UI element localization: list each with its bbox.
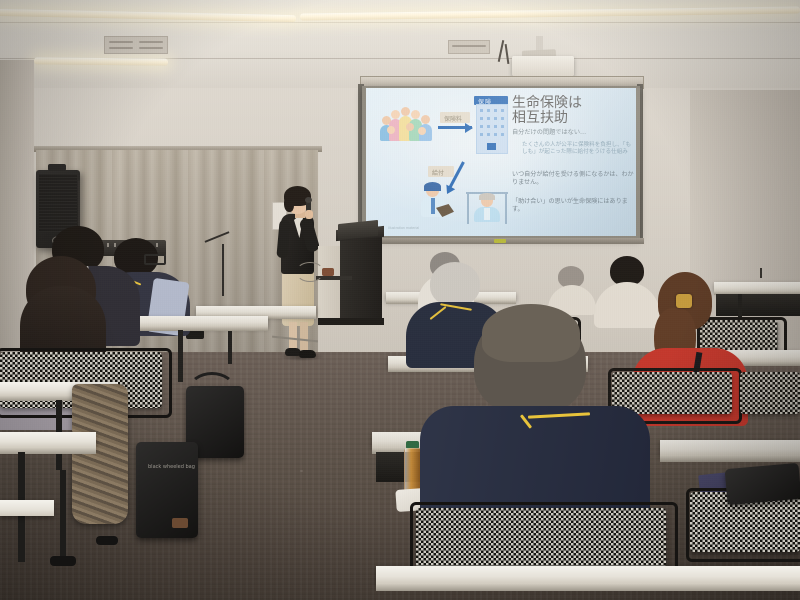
hair-barrette: [676, 294, 692, 308]
desk-edge: [376, 583, 800, 591]
desk-edge: [660, 455, 800, 462]
desk-edge: [118, 326, 268, 331]
glasses-icon: [144, 254, 166, 265]
ceiling-light-strip: [34, 57, 168, 65]
carpet-speck: [300, 470, 303, 472]
desk: [0, 500, 54, 516]
desk-front-panel: [716, 294, 800, 316]
desk-leg: [178, 330, 183, 382]
seminar-room-photo: projector 保険料 保険: [0, 0, 800, 600]
chair-caster: [50, 556, 76, 566]
speaker-grille: [39, 174, 77, 232]
desk: [660, 440, 800, 456]
wheeled-bag[interactable]: black wheeled bag: [136, 442, 198, 538]
ceiling-seam: [0, 22, 800, 23]
head: [430, 262, 480, 306]
presenter-shoe: [299, 350, 316, 358]
desk-edge: [0, 447, 96, 454]
presenter-hair: [284, 196, 294, 212]
desk: [0, 432, 96, 448]
coiled-cable: [296, 262, 324, 282]
slide-vignette: [366, 88, 636, 236]
chair-back[interactable]: [740, 372, 800, 414]
screen-center-marker: [494, 239, 506, 243]
ceiling-vent: [448, 40, 490, 54]
chair-leg: [60, 470, 66, 560]
desk: [376, 566, 800, 584]
podium-base: [318, 318, 384, 325]
speaker-top-handle: [48, 164, 66, 171]
microphone-stand: [222, 244, 224, 296]
ceiling-vent: [104, 36, 168, 54]
microphone-head-icon: [305, 197, 312, 203]
presenter-leg: [300, 322, 308, 350]
tweed-coat[interactable]: [72, 384, 128, 524]
hair: [482, 304, 580, 362]
microphone-stand: [760, 268, 762, 278]
bag-tag: [172, 518, 188, 528]
presenter-hand: [305, 210, 313, 219]
chair-caster: [96, 536, 118, 545]
projected-slide: 保険料 保険 給付: [366, 88, 636, 236]
ceiling-projector: projector: [512, 56, 574, 76]
presenter-leg: [289, 322, 297, 350]
laptop-bag[interactable]: [725, 463, 800, 505]
bag-brand-label: black wheeled bag: [148, 464, 195, 470]
